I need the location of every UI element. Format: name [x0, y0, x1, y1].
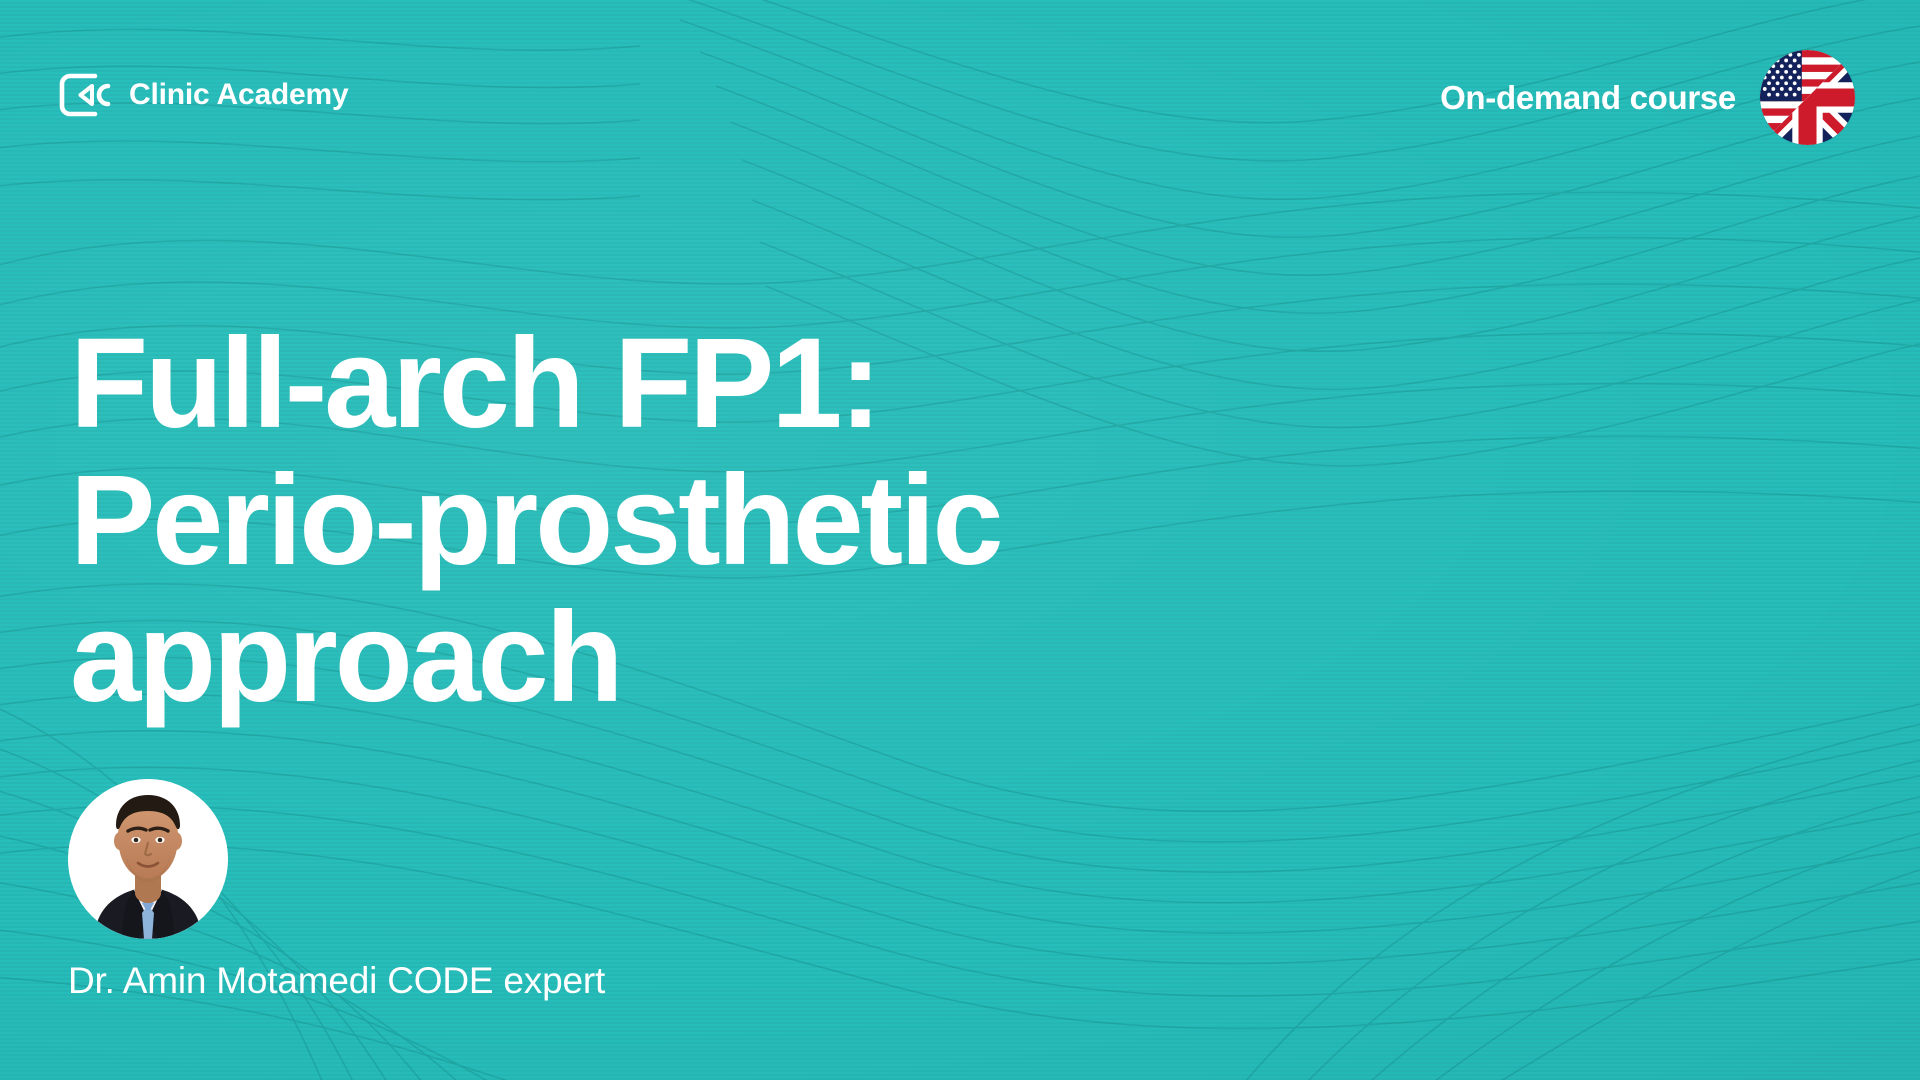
presenter-block: Dr. Amin Motamedi CODE expert [68, 779, 605, 1002]
presenter-name: Dr. Amin Motamedi CODE expert [68, 961, 605, 1002]
brand-logo[interactable]: Clinic Academy [58, 72, 349, 118]
avatar [68, 779, 228, 939]
video-camera-icon [58, 72, 112, 118]
on-demand-label: On-demand course [1440, 81, 1736, 114]
on-demand-course-badge: On-demand course [1440, 50, 1855, 145]
brand-name-label: Clinic Academy [129, 80, 349, 110]
us-uk-flag-icon [1760, 50, 1855, 145]
course-thumbnail-slide: Clinic Academy On-demand course [0, 0, 1920, 1080]
page-title: Full-arch FP1: Perio-prosthetic approach [70, 316, 1220, 727]
